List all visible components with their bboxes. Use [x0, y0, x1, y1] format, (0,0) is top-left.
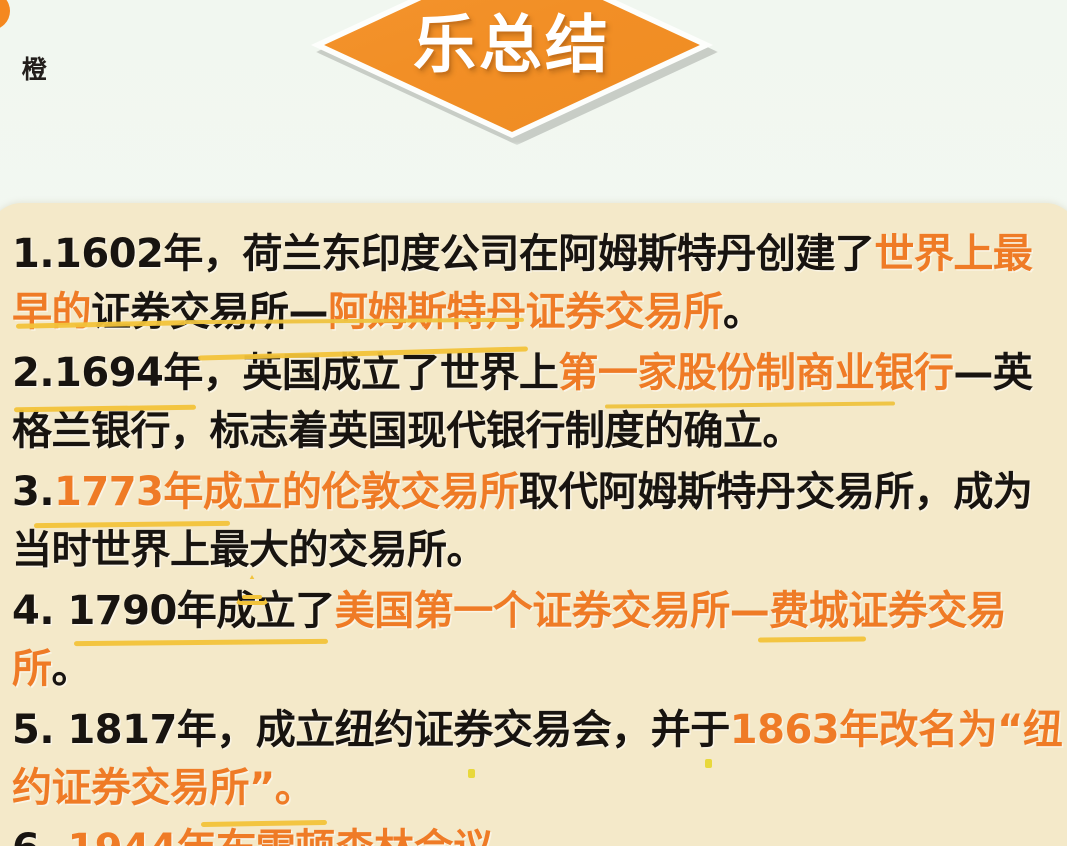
body-text: 4. 1790年成立了 [12, 588, 335, 634]
brand-logo: 乐 橙 [0, 0, 92, 102]
body-text: 5. 1817年，成立纽约证券交易会，并于 [12, 707, 730, 753]
slide-canvas: 乐 橙 乐总结 1.1602年，荷兰东印度公司在阿姆斯特丹创建了世界上最早的证券… [0, 0, 1067, 846]
summary-list: 1.1602年，荷兰东印度公司在阿姆斯特丹创建了世界上最早的证券交易所—阿姆斯特… [12, 225, 1065, 846]
summary-item: 1.1602年，荷兰东印度公司在阿姆斯特丹创建了世界上最早的证券交易所—阿姆斯特… [12, 225, 1065, 341]
highlighted-text: 阿姆斯特丹证券交易所 [328, 289, 723, 335]
title-banner: 乐总结 [311, 0, 713, 138]
circle-logo-icon [0, 0, 10, 30]
brand-logo-text: 乐 橙 [0, 50, 54, 86]
body-text: 2.1694年，英国成立了世界上 [12, 350, 558, 396]
summary-item: 5. 1817年，成立纽约证券交易会，并于1863年改名为“纽约证券交易所”。 [12, 701, 1065, 817]
body-text: 。 [723, 289, 763, 335]
highlighted-text: 第一家股份制商业银行 [558, 350, 953, 396]
page-title: 乐总结 [311, 14, 713, 77]
summary-card: 1.1602年，荷兰东印度公司在阿姆斯特丹创建了世界上最早的证券交易所—阿姆斯特… [0, 203, 1067, 846]
summary-item: 4. 1790年成立了美国第一个证券交易所—费城证券交易所。 [12, 582, 1065, 698]
body-text: 6. [12, 826, 67, 846]
summary-item: 2.1694年，英国成立了世界上第一家股份制商业银行—英格兰银行，标志着英国现代… [12, 344, 1065, 460]
body-text: 证券交易所— [91, 289, 328, 335]
summary-item: 6. 1944年布雷顿森林会议。 [12, 820, 1065, 846]
body-text: 1.1602年，荷兰东印度公司在阿姆斯特丹创建了 [12, 231, 874, 277]
summary-item: 3.1773年成立的伦敦交易所取代阿姆斯特丹交易所，成为当时世界上最大的交易所。 [12, 463, 1065, 579]
body-text: 。 [52, 646, 92, 692]
highlighted-text: 1944年布雷顿森林会议。 [67, 826, 532, 846]
body-text: 3. [12, 469, 54, 515]
highlighted-text: 1773年成立的伦敦交易所 [54, 469, 519, 515]
